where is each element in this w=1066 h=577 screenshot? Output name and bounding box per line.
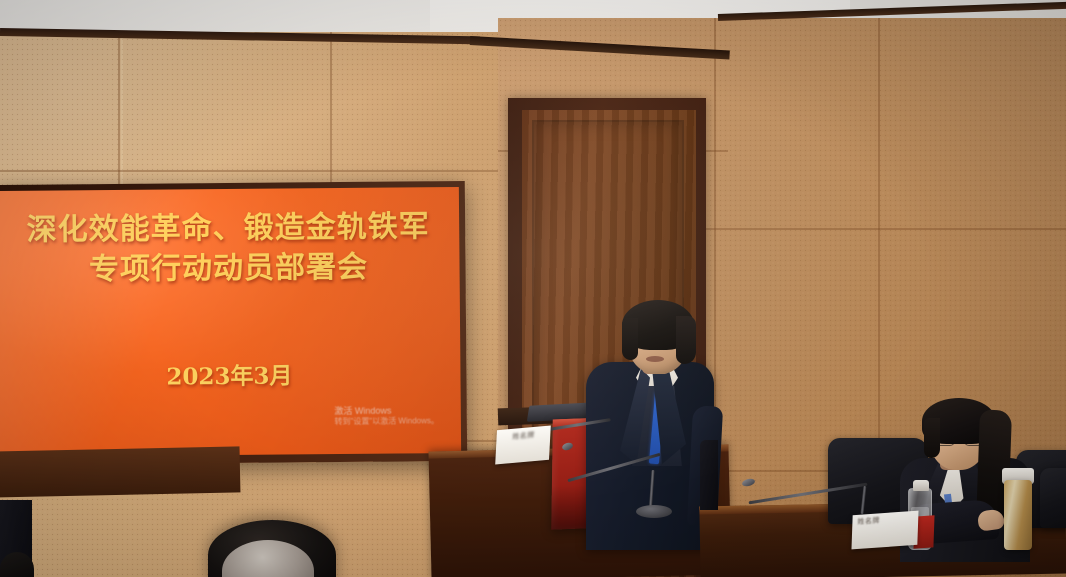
speaker-hair-right bbox=[676, 316, 696, 364]
dais-name-card: 姓名牌 bbox=[851, 511, 918, 550]
audience-body-right-edge bbox=[700, 440, 718, 510]
water-bottle-cap[interactable] bbox=[913, 480, 929, 491]
watermark-line-2: 转到"设置"以激活 Windows。 bbox=[334, 416, 438, 428]
projection-screen-frame: 深化效能革命、锻造金轨铁军 专项行动动员部署会 2023年3月 激活 Windo… bbox=[0, 181, 467, 465]
slide-title-line-1: 深化效能革命、锻造金轨铁军 bbox=[0, 207, 459, 251]
speaker-mouth bbox=[646, 356, 664, 362]
speaker-hair-left bbox=[622, 318, 638, 360]
stage-front-panel bbox=[0, 446, 240, 497]
windows-activation-watermark: 激活 Windows 转到"设置"以激活 Windows。 bbox=[334, 404, 439, 428]
gold-thermos-flask[interactable] bbox=[1004, 480, 1032, 550]
conference-room-photo: 深化效能革命、锻造金轨铁军 专项行动动员部署会 2023年3月 激活 Windo… bbox=[0, 0, 1066, 577]
lectern-name-card-text: 姓名牌 bbox=[499, 431, 546, 459]
wall-seam bbox=[678, 228, 1066, 230]
dais-name-card-text: 姓名牌 bbox=[857, 515, 914, 545]
gooseneck-microphone-lectern-base bbox=[636, 505, 672, 518]
wall-seam bbox=[0, 170, 500, 172]
projection-screen: 深化效能革命、锻造金轨铁军 专项行动动员部署会 2023年3月 激活 Windo… bbox=[0, 187, 461, 457]
slide-date: 2023年3月 bbox=[0, 355, 461, 393]
lectern-name-card: 姓名牌 bbox=[495, 426, 551, 465]
wall-seam bbox=[878, 18, 880, 478]
slide-title: 深化效能革命、锻造金轨铁军 专项行动动员部署会 bbox=[0, 207, 460, 291]
slide-title-line-2: 专项行动动员部署会 bbox=[0, 247, 460, 291]
seated-hair-side bbox=[924, 418, 940, 458]
